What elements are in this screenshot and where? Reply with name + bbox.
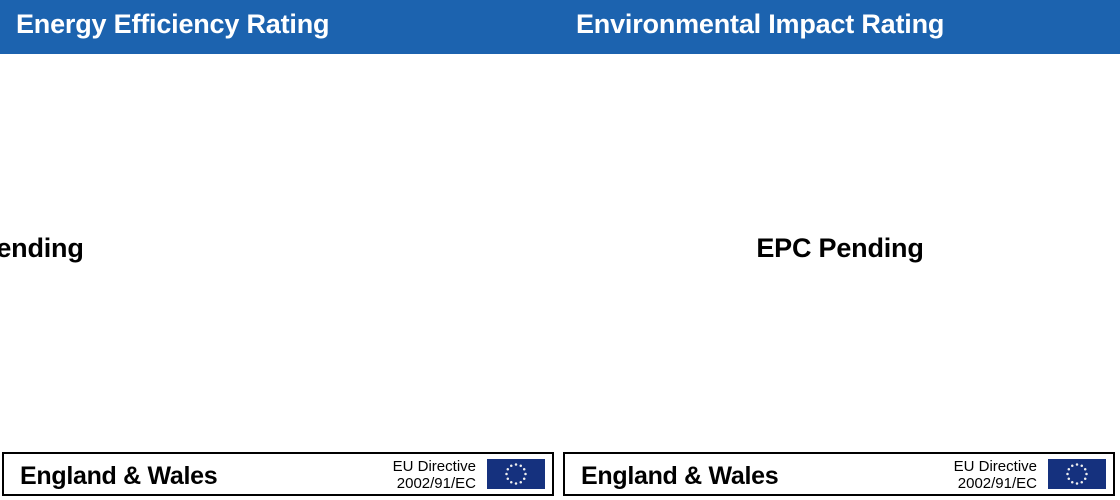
eu-directive-line-2-left: 2002/91/EC xyxy=(393,475,476,492)
environmental-impact-panel: EPC Pending xyxy=(560,54,1120,452)
environmental-impact-pending-label: EPC Pending xyxy=(560,233,1120,264)
eu-directive-text-left: EU Directive 2002/91/EC xyxy=(393,458,476,492)
region-label-england-wales-left: England & Wales xyxy=(20,462,217,491)
eu-flag-icon-left xyxy=(487,459,545,489)
energy-efficiency-footer: England & Wales EU Directive 2002/91/EC xyxy=(2,452,554,496)
environmental-impact-rating-title: Environmental Impact Rating xyxy=(576,9,944,40)
energy-efficiency-pending-label: EPC Pending xyxy=(0,233,280,264)
energy-efficiency-rating-title: Energy Efficiency Rating xyxy=(16,9,329,40)
region-label-england-wales-right: England & Wales xyxy=(581,462,778,491)
eu-directive-line-1-right: EU Directive xyxy=(954,458,1037,475)
header-band: Energy Efficiency Rating Environmental I… xyxy=(0,0,1120,54)
energy-efficiency-panel: EPC Pending xyxy=(0,54,560,452)
eu-flag-icon-right xyxy=(1048,459,1106,489)
eu-directive-line-2-right: 2002/91/EC xyxy=(954,475,1037,492)
eu-directive-text-right: EU Directive 2002/91/EC xyxy=(954,458,1037,492)
environmental-impact-footer: England & Wales EU Directive 2002/91/EC xyxy=(563,452,1115,496)
footer-row: England & Wales EU Directive 2002/91/EC xyxy=(0,452,1120,498)
eu-directive-line-1-left: EU Directive xyxy=(393,458,476,475)
rating-chart-area: EPC Pending EPC Pending xyxy=(0,54,1120,452)
